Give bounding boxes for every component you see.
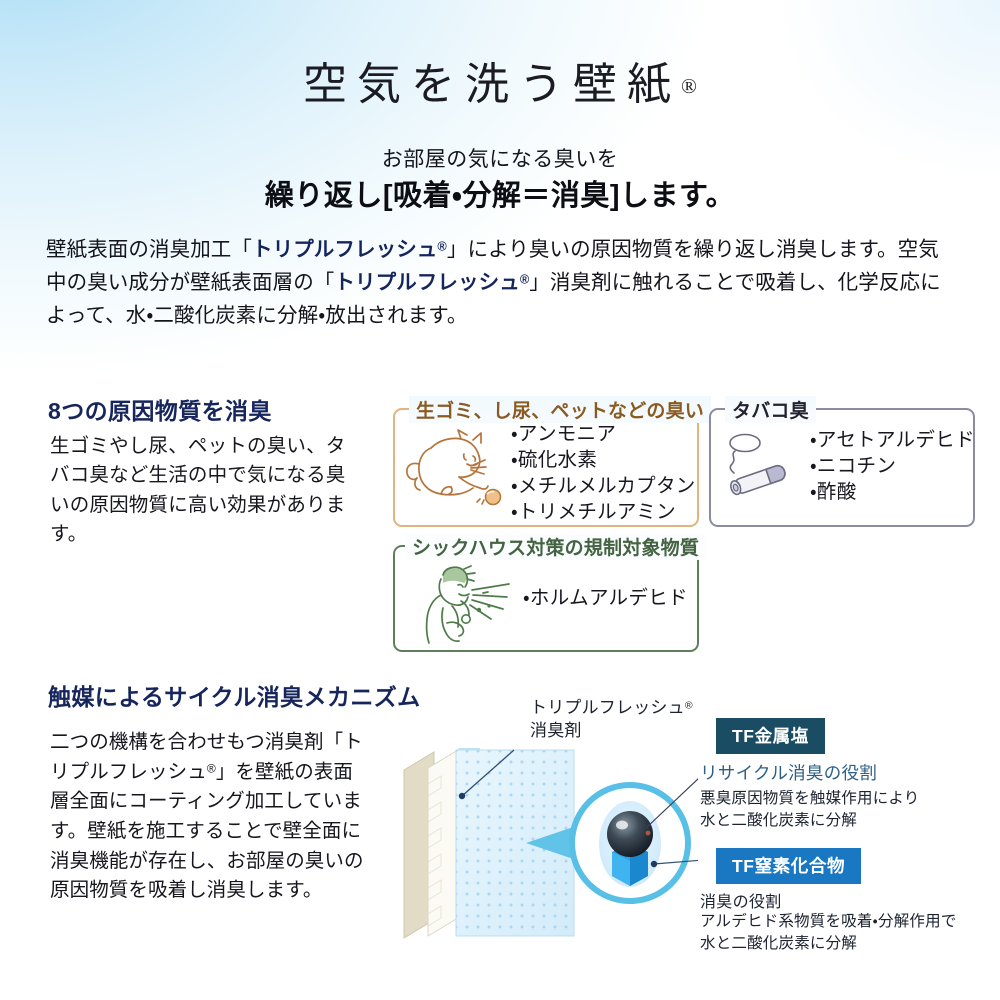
lead-text-1: 壁紙表面の消臭加工「 [46,238,252,261]
odor-box-kitchen-legend: 生ゴミ、し尿、ペットなどの臭い [409,396,711,423]
tf-nitrogen-compound-description: アルデヒド系物質を吸着・分解作用で 水と二酸化炭素に分解 [700,911,957,956]
diagram-callout-sub: 消臭剤 [530,720,693,743]
coughing-person-icon [417,561,517,645]
odor-box-sick-house: シックハウス対策の規制対象物質 [393,545,699,652]
mechanism-section-body: 二つの機構を合わせもつ消臭剤「トリプルフレッシュ®」を壁紙の表面層全面にコーティ… [50,728,370,906]
odor-section-body: 生ゴミやし尿、ペットの臭い、タバコ臭など生活の中で気になる臭いの原因物質に高い効… [50,432,350,549]
list-item: ・メチルメルカプタン [511,473,696,499]
odor-box-tobacco: タバコ臭 ・アセトアルデヒド ・ニコチン ・酢酸 [709,408,975,527]
list-item: ・酢酸 [810,479,975,505]
description-line: アルデヒド系物質を吸着・分解作用で [700,911,957,933]
list-item: ・トリメチルアミン [511,499,696,525]
odor-box-sick-house-legend: シックハウス対策の規制対象物質 [405,533,706,560]
registered-mark-icon: ® [681,74,697,98]
list-item: ・ホルムアルデヒド [523,585,688,611]
infographic-page: 空気を洗う壁紙® お部屋の気になる臭いを 繰り返し[吸着・分解＝消臭]します。 … [0,0,1000,1000]
odor-box-kitchen-items: ・アンモニア ・硫化水素 ・メチルメルカプタン ・トリメチルアミン [511,421,696,525]
description-line: 水と二酸化炭素に分解 [700,933,957,955]
cigarette-icon [721,432,809,498]
subtitle-line-1: お部屋の気になる臭いを [0,143,1000,173]
registered-mark-icon: ® [437,238,446,253]
tf-metal-salt-description: 悪臭原因物質を触媒作用により 水と二酸化炭素に分解 [700,788,920,833]
cat-icon [401,426,509,508]
registered-mark-icon: ® [207,761,216,775]
page-title-text: 空気を洗う壁紙 [303,60,681,109]
description-line: 悪臭原因物質を触媒作用により [700,788,920,810]
brand-label: トリプルフレッシュ [334,271,519,294]
description-line: 水と二酸化炭素に分解 [700,810,920,832]
brand-label: トリプルフレッシュ [530,698,685,717]
lead-paragraph: 壁紙表面の消臭加工「トリプルフレッシュ®」により臭いの原因物質を繰り返し消臭しま… [46,233,956,333]
mechanism-section-heading: 触媒によるサイクル消臭メカニズム [48,678,421,712]
badge-tf-nitrogen-compound: TF窒素化合物 [716,848,861,884]
brand-name-1: トリプルフレッシュ® [252,238,447,261]
badge-tf-metal-salt: TF金属塩 [716,718,825,754]
list-item: ・ニコチン [810,453,975,479]
wallpaper-cross-section-diagram [398,748,698,983]
tf-metal-salt-title: リサイクル消臭の役割 [700,760,877,785]
diagram-callout-triplefresh: トリプルフレッシュ® 消臭剤 [530,697,693,742]
diagram-callout-brand: トリプルフレッシュ® [530,697,693,720]
odor-section-heading: 8つの原因物質を消臭 [48,392,272,426]
brand-name-2: トリプルフレッシュ® [334,271,529,294]
mechanism-text-1: 二つの機構を合わせもつ消臭剤「 [50,731,343,753]
list-item: ・アセトアルデヒド [810,427,975,453]
background-gradient-top-right [660,0,1000,260]
list-item: ・アンモニア [511,421,696,447]
registered-mark-icon: ® [685,699,693,711]
subtitle-line-2: 繰り返し[吸着・分解＝消臭]します。 [0,172,1000,214]
odor-box-sick-house-items: ・ホルムアルデヒド [523,585,688,611]
list-item: ・硫化水素 [511,447,696,473]
odor-box-kitchen-pet: 生ゴミ、し尿、ペットなどの臭い [393,408,699,527]
brand-label: トリプルフレッシュ [252,238,437,261]
registered-mark-icon: ® [520,271,529,286]
page-title: 空気を洗う壁紙® [0,48,1000,112]
odor-box-tobacco-legend: タバコ臭 [725,396,816,423]
odor-box-tobacco-items: ・アセトアルデヒド ・ニコチン ・酢酸 [810,427,975,505]
tf-nitrogen-compound-title: 消臭の役割 [700,888,782,912]
